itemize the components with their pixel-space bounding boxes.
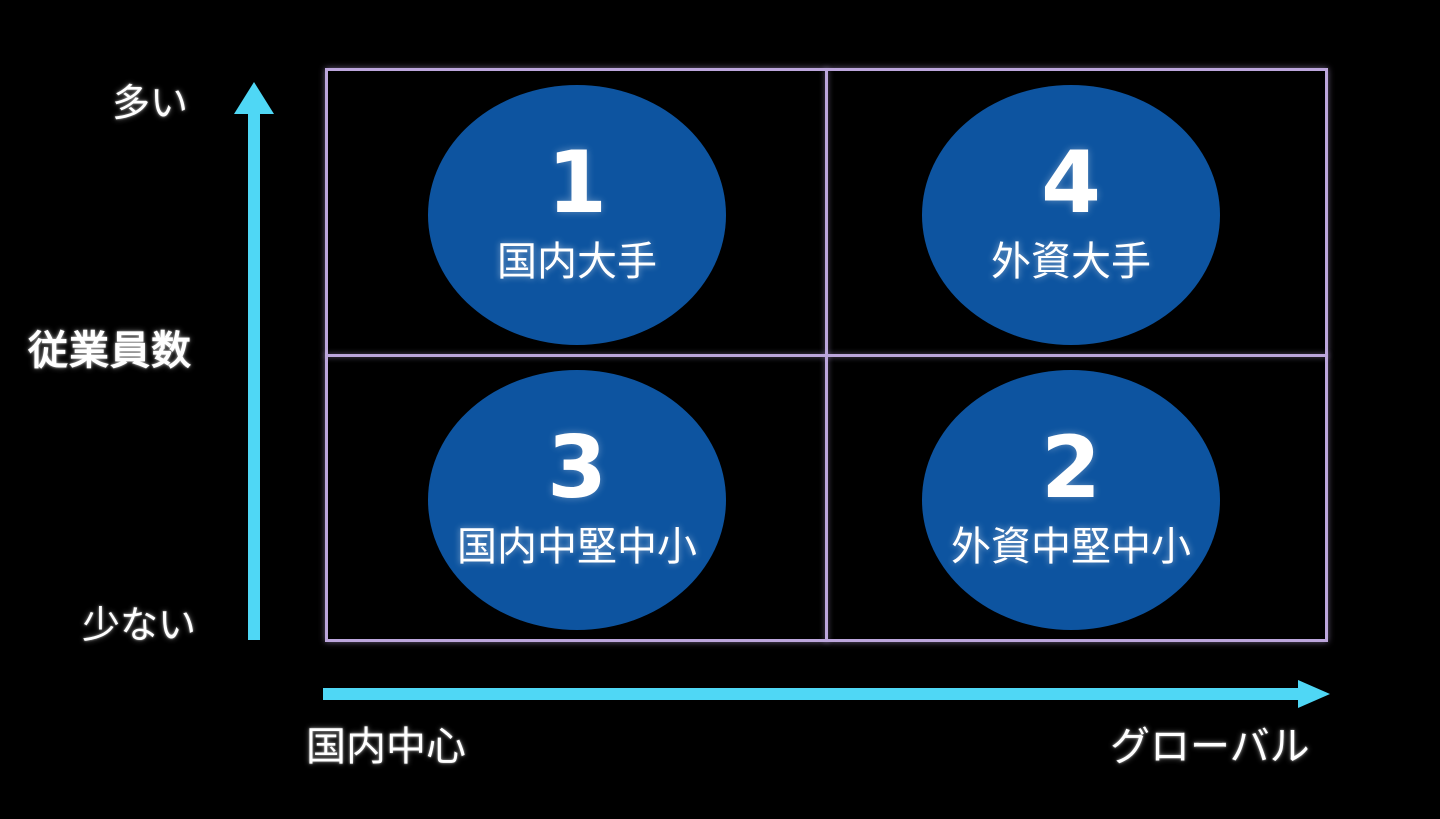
- x-axis-right-label: グローバル: [1110, 714, 1310, 772]
- quadrant-bubble-2-label: 外資中堅中小: [951, 514, 1191, 572]
- quadrant-bubble-1[interactable]: 1 国内大手: [428, 85, 726, 345]
- quadrant-bubble-4-label: 外資大手: [991, 229, 1151, 287]
- quadrant-bubble-3-number: 3: [547, 428, 607, 510]
- x-axis-arrow-head-icon: [1298, 680, 1330, 708]
- quadrant-bubble-2-number: 2: [1041, 428, 1101, 510]
- quadrant-bubble-1-number: 1: [547, 143, 607, 225]
- quadrant-bubble-2[interactable]: 2 外資中堅中小: [922, 370, 1220, 630]
- y-axis-low-label: 少ない: [82, 594, 196, 649]
- x-axis-arrow-shaft: [323, 688, 1308, 700]
- y-axis-title: 従業員数: [28, 318, 192, 376]
- quadrant-matrix-slide: 従業員数 多い 少ない 国内中心 グローバル 1 国内大手 4 外資大手 3 国…: [0, 0, 1440, 819]
- quadrant-bubble-3[interactable]: 3 国内中堅中小: [428, 370, 726, 630]
- quadrant-bubble-1-label: 国内大手: [497, 229, 657, 287]
- y-axis-arrow-shaft: [248, 110, 260, 640]
- matrix-divider-vertical: [825, 68, 828, 642]
- quadrant-bubble-3-label: 国内中堅中小: [457, 514, 697, 572]
- x-axis-left-label: 国内中心: [306, 714, 466, 772]
- quadrant-bubble-4-number: 4: [1041, 143, 1101, 225]
- y-axis-high-label: 多い: [112, 72, 188, 127]
- quadrant-bubble-4[interactable]: 4 外資大手: [922, 85, 1220, 345]
